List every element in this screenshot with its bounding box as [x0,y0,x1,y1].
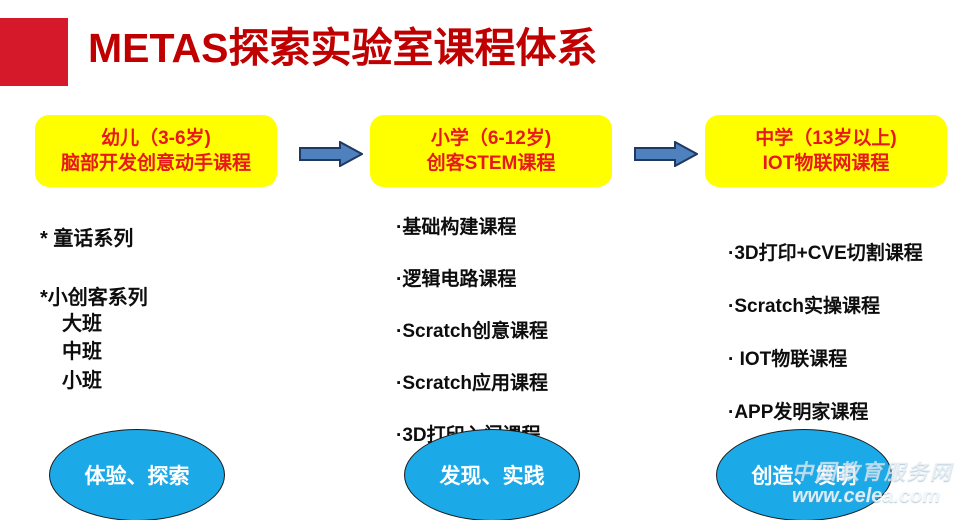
stage-heading-line2: IOT物联网课程 [763,151,890,176]
list-item: ·3D打印+CVE切割课程 [728,238,923,265]
list-item: 中班 [40,338,148,366]
stage-box-preschool[interactable]: 幼儿（3-6岁) 脑部开发创意动手课程 [35,115,277,187]
list-item: ·Scratch实操课程 [728,291,923,318]
list-item: 小班 [40,367,148,395]
spacer [40,251,148,281]
arrow-right-icon [299,141,363,167]
stage-heading-line2: 脑部开发创意动手课程 [61,151,251,176]
outcome-label: 创造、发明 [752,460,857,490]
list-item: * 童话系列 [40,222,148,251]
slide-canvas: METAS探索实验室课程体系 幼儿（3-6岁) 脑部开发创意动手课程 小学（6-… [0,0,969,520]
outcome-label: 体验、探索 [85,460,190,490]
list-item: · IOT物联课程 [728,344,923,371]
course-list-middle: ·3D打印+CVE切割课程 ·Scratch实操课程 · IOT物联课程 ·AP… [728,238,923,450]
stage-heading-line2: 创客STEM课程 [427,151,556,176]
list-item: *小创客系列 [40,281,148,310]
stage-heading-line1: 小学（6-12岁) [431,126,551,151]
outcome-badge-middle[interactable]: 创造、发明 [716,429,892,520]
outcome-badge-primary[interactable]: 发现、实践 [404,429,580,520]
course-list-preschool: * 童话系列 *小创客系列 大班 中班 小班 [40,222,148,395]
list-item: ·Scratch创意课程 [396,316,548,343]
title-accent-block [0,18,68,86]
stage-heading-line1: 中学（13岁以上) [755,126,896,151]
list-item: ·逻辑电路课程 [396,264,548,291]
list-item: ·基础构建课程 [396,212,548,239]
stage-heading-line1: 幼儿（3-6岁) [101,126,211,151]
page-title: METAS探索实验室课程体系 [88,24,597,73]
arrow-right-icon [634,141,698,167]
list-item: 大班 [40,310,148,338]
outcome-label: 发现、实践 [440,460,545,490]
stage-box-middle[interactable]: 中学（13岁以上) IOT物联网课程 [705,115,947,187]
list-item: ·APP发明家课程 [728,397,923,424]
outcome-badge-preschool[interactable]: 体验、探索 [49,429,225,520]
list-item: ·Scratch应用课程 [396,368,548,395]
stage-box-primary[interactable]: 小学（6-12岁) 创客STEM课程 [370,115,612,187]
